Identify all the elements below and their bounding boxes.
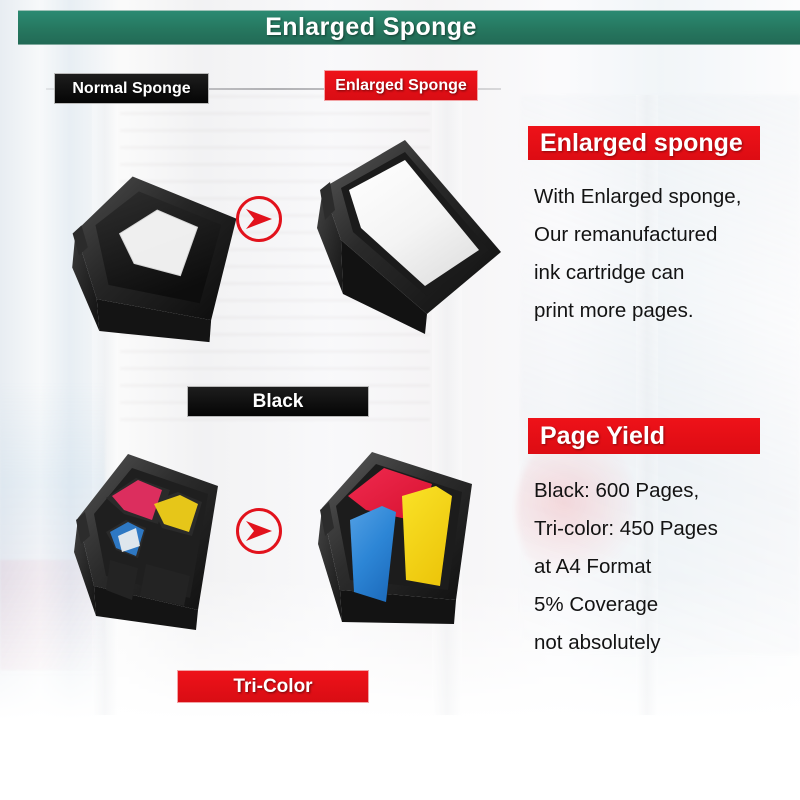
- tag-tricolor: Tri-Color: [177, 670, 369, 703]
- header-band: Enlarged Sponge: [18, 10, 800, 45]
- tag-black-label: Black: [253, 391, 304, 413]
- copy-line: Black: 600 Pages,: [534, 472, 718, 510]
- headline-page-yield-label: Page Yield: [540, 422, 665, 451]
- cartridge-black-normal-sponge: [60, 156, 258, 354]
- headline-enlarged-sponge: Enlarged sponge: [528, 126, 760, 160]
- copy-line: at A4 Format: [534, 548, 718, 586]
- copy-line: Tri-color: 450 Pages: [534, 510, 718, 548]
- arrow-right-circle-icon: [236, 196, 282, 242]
- tag-normal-sponge: Normal Sponge: [54, 73, 209, 104]
- cartridge-tricolor-normal-svg: [66, 440, 266, 640]
- cartridge-black-enlarged-sponge: [305, 128, 510, 343]
- tag-black: Black: [187, 386, 369, 417]
- page-title: Enlarged Sponge: [265, 13, 477, 42]
- tag-enlarged-sponge: Enlarged Sponge: [324, 70, 478, 101]
- arrow-head-icon: [245, 520, 273, 542]
- arrow-head-icon: [245, 208, 273, 230]
- copy-line: 5% Coverage: [534, 586, 718, 624]
- cartridge-tricolor-normal-sponge: [66, 440, 266, 640]
- cartridge-black-normal-svg: [60, 156, 258, 354]
- copy-page-yield: Black: 600 Pages, Tri-color: 450 Pages a…: [534, 472, 718, 662]
- copy-line: Our remanufactured: [534, 216, 741, 254]
- tag-enlarged-sponge-label: Enlarged Sponge: [335, 77, 467, 95]
- copy-line: ink cartridge can: [534, 254, 741, 292]
- cartridge-tricolor-enlarged-sponge: [310, 440, 510, 652]
- cartridge-tricolor-enlarged-svg: [310, 440, 510, 652]
- copy-line: With Enlarged sponge,: [534, 178, 741, 216]
- tag-tricolor-label: Tri-Color: [233, 676, 312, 698]
- cartridge-black-enlarged-svg: [305, 128, 510, 343]
- headline-enlarged-sponge-label: Enlarged sponge: [540, 129, 743, 158]
- headline-page-yield: Page Yield: [528, 418, 760, 454]
- tag-normal-sponge-label: Normal Sponge: [72, 80, 190, 98]
- arrow-right-circle-icon: [236, 508, 282, 554]
- copy-line: not absolutely: [534, 624, 718, 662]
- infographic-page: Enlarged Sponge Normal Sponge Enlarged S…: [0, 0, 800, 800]
- copy-enlarged-sponge: With Enlarged sponge, Our remanufactured…: [534, 178, 741, 330]
- copy-line: print more pages.: [534, 292, 741, 330]
